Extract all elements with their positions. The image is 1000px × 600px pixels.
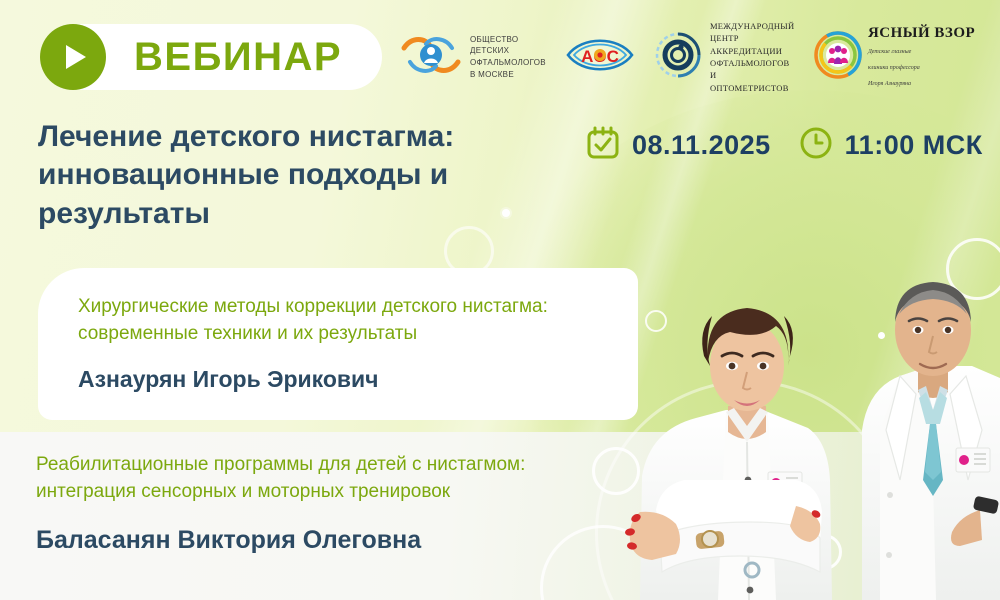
- clock-icon: [799, 126, 833, 165]
- event-date: 08.11.2025: [586, 126, 771, 165]
- play-icon: [40, 24, 106, 90]
- logo-yasniy-vzor-subtitle: Детские глазные клиники профессора Игоря…: [868, 49, 920, 87]
- webinar-badge-label: ВЕБИНАР: [134, 37, 342, 77]
- event-time-value: 11:00 МСК: [845, 130, 983, 161]
- speaker-1-name: Азнаурян Игорь Эрикович: [78, 366, 608, 393]
- speaker-card-2: Реабилитационные программы для детей с н…: [36, 452, 616, 555]
- partner-logos: ОБЩЕСТВО ДЕТСКИХ ОФТАЛЬМОЛОГОВ В МОСКВЕ …: [400, 26, 1000, 88]
- aoc-eye-logo-icon: AOC: [564, 32, 636, 83]
- page-title: Лечение детского нистагма: инновационные…: [38, 118, 583, 233]
- speaker-card-1: Хирургические методы коррекции детского …: [38, 268, 638, 420]
- event-time: 11:00 МСК: [799, 126, 983, 165]
- eye-hands-logo-icon: [400, 32, 462, 83]
- family-circle-logo-icon: [814, 31, 862, 84]
- logo-yasniy-vzor: ЯСНЫЙ ВЗОР Детские глазные клиники профе…: [814, 25, 1000, 89]
- logo-society-label: ОБЩЕСТВО ДЕТСКИХ ОФТАЛЬМОЛОГОВ В МОСКВЕ: [470, 34, 546, 80]
- webinar-badge: ВЕБИНАР: [40, 24, 382, 90]
- speaker-2-name: Баласанян Виктория Олеговна: [36, 526, 616, 555]
- event-meta: 08.11.2025 11:00 МСК: [586, 126, 983, 165]
- speaker-1-topic: Хирургические методы коррекции детского …: [78, 294, 608, 348]
- swirl-eye-logo-icon: [654, 31, 702, 84]
- calendar-check-icon: [586, 126, 620, 165]
- speaker-2-topic: Реабилитационные программы для детей с н…: [36, 452, 616, 506]
- logo-international-accreditation-center: МЕЖДУНАРОДНЫЙ ЦЕНТР АККРЕДИТАЦИИ ОФТАЛЬМ…: [654, 20, 796, 94]
- webinar-poster: ВЕБИНАР ОБЩЕСТВО ДЕТСКИХ ОФТАЛЬМОЛОГОВ В…: [0, 0, 1000, 600]
- logo-aoc: AOC: [564, 32, 636, 83]
- logo-yasniy-vzor-title: ЯСНЫЙ ВЗОР: [868, 25, 975, 41]
- logo-society-pediatric-ophthalmologists: ОБЩЕСТВО ДЕТСКИХ ОФТАЛЬМОЛОГОВ В МОСКВЕ: [400, 32, 546, 83]
- two-doctors-photo: [600, 180, 1000, 600]
- event-date-value: 08.11.2025: [632, 130, 771, 161]
- logo-accreditation-label: МЕЖДУНАРОДНЫЙ ЦЕНТР АККРЕДИТАЦИИ ОФТАЛЬМ…: [710, 20, 796, 94]
